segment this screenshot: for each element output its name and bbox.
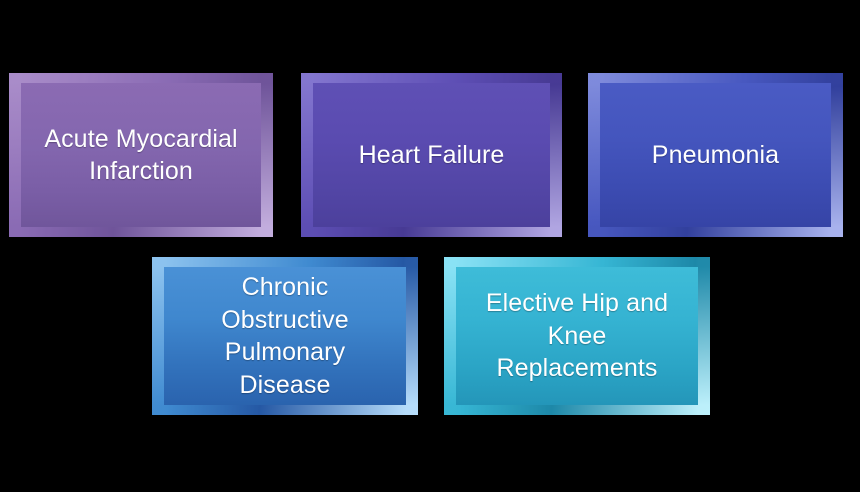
category-box-label: Chronic Obstructive Pulmonary Disease bbox=[178, 271, 392, 401]
category-box-label: Pneumonia bbox=[614, 139, 817, 172]
category-box-chronic-obstructive-pulmonary-disease[interactable]: Chronic Obstructive Pulmonary Disease bbox=[152, 257, 418, 415]
category-box-elective-hip-and-knee-replacements[interactable]: Elective Hip and Knee Replacements bbox=[444, 257, 710, 415]
category-box-heart-failure[interactable]: Heart Failure bbox=[301, 73, 562, 237]
category-box-pneumonia[interactable]: Pneumonia bbox=[588, 73, 843, 237]
category-box-label: Acute Myocardial Infarction bbox=[35, 123, 247, 188]
slide-canvas: Acute Myocardial Infarction Heart Failur… bbox=[0, 0, 860, 492]
category-box-label: Heart Failure bbox=[327, 139, 536, 172]
category-box-label: Elective Hip and Knee Replacements bbox=[470, 287, 684, 385]
category-box-acute-myocardial-infarction[interactable]: Acute Myocardial Infarction bbox=[9, 73, 273, 237]
